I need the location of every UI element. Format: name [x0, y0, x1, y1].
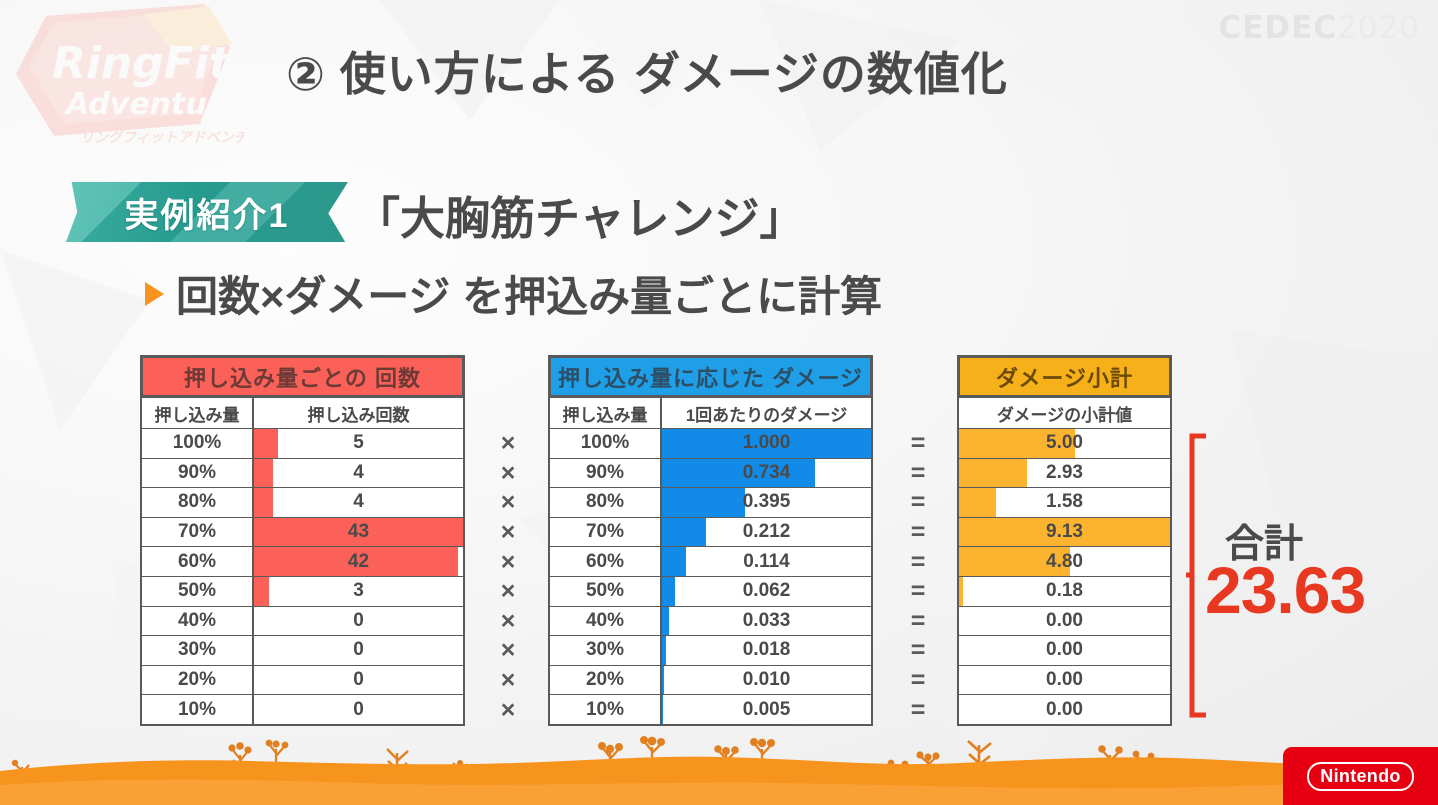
table-damage-column-headers: 押し込み量 1回あたりのダメージ: [550, 398, 871, 428]
table-row: 4.80: [959, 546, 1170, 576]
bottom-decoration-band: [0, 733, 1438, 805]
row-value: 0.114: [743, 551, 790, 573]
operator-column-equals: ==========: [888, 429, 948, 725]
equals-operator: =: [888, 607, 948, 637]
row-value: 5.00: [1046, 432, 1083, 454]
row-label: 10%: [550, 695, 662, 724]
row-value: 0.00: [1046, 699, 1083, 721]
row-value-cell: 0.005: [662, 695, 871, 724]
cedec-logo: CEDEC2020: [1219, 10, 1421, 46]
table-damage-col-0: 押し込み量: [550, 398, 662, 428]
row-label: 20%: [550, 666, 662, 695]
table-row: 70%0.212: [550, 517, 871, 547]
row-value-cell: 0: [254, 607, 463, 636]
row-value: 2.93: [1046, 462, 1083, 484]
equals-operator: =: [888, 547, 948, 577]
table-subtotal-header: ダメージ小計: [957, 355, 1172, 398]
table-row: 30%0.018: [550, 635, 871, 665]
section-subtitle: 「大胸筋チャレンジ」: [355, 182, 805, 247]
row-value-cell: 3: [254, 577, 463, 606]
svg-text:Adventure: Adventure: [64, 87, 242, 122]
table-reps-rows: 100%590%480%470%4360%4250%340%030%020%01…: [142, 428, 463, 724]
row-label: 60%: [550, 547, 662, 576]
row-label: 80%: [142, 488, 254, 517]
row-value: 0.033: [743, 610, 791, 632]
row-value-cell: 0.010: [662, 666, 871, 695]
table-row: 0.00: [959, 606, 1170, 636]
multiply-operator: ×: [478, 429, 538, 459]
table-row: 70%43: [142, 517, 463, 547]
table-row: 30%0: [142, 635, 463, 665]
value-bar: [254, 488, 273, 517]
row-value-cell: 0: [254, 636, 463, 665]
equals-operator: =: [888, 695, 948, 725]
table-reps-header: 押し込み量ごとの 回数: [140, 355, 465, 398]
row-label: 100%: [550, 429, 662, 458]
multiply-operator: ×: [478, 607, 538, 637]
table-reps-grid: 押し込み量 押し込み回数 100%590%480%470%4360%4250%3…: [140, 398, 465, 726]
table-row: 100%1.000: [550, 428, 871, 458]
value-bar: [959, 488, 996, 517]
table-row: 10%0: [142, 694, 463, 724]
row-value: 0.00: [1046, 669, 1083, 691]
table-row: 5.00: [959, 428, 1170, 458]
table-reps-column-headers: 押し込み量 押し込み回数: [142, 398, 463, 428]
equals-operator: =: [888, 429, 948, 459]
row-value: 0.00: [1046, 610, 1083, 632]
svg-text:RingFit: RingFit: [52, 38, 232, 89]
table-subtotal: ダメージ小計 ダメージの小計値 5.002.931.589.134.800.18…: [957, 355, 1172, 726]
value-bar: [662, 488, 745, 517]
row-value-cell: 0.395: [662, 488, 871, 517]
table-reps-col-0: 押し込み量: [142, 398, 254, 428]
cedec-logo-main: CEDEC: [1219, 10, 1338, 46]
value-bar: [662, 547, 686, 576]
equals-operator: =: [888, 459, 948, 489]
equals-operator: =: [888, 518, 948, 548]
row-label: 40%: [550, 607, 662, 636]
table-row: 40%0.033: [550, 606, 871, 636]
equals-operator: =: [888, 636, 948, 666]
row-value-cell: 5: [254, 429, 463, 458]
row-label: 30%: [142, 636, 254, 665]
table-row: 40%0: [142, 606, 463, 636]
row-value: 0: [353, 639, 364, 661]
table-row: 100%5: [142, 428, 463, 458]
page-title: ② 使い方による ダメージの数値化: [286, 38, 1008, 104]
row-label: 70%: [550, 518, 662, 547]
row-value-cell: 9.13: [959, 518, 1170, 547]
multiply-operator: ×: [478, 459, 538, 489]
table-row: 0.00: [959, 635, 1170, 665]
row-value-cell: 43: [254, 518, 463, 547]
table-row: 90%0.734: [550, 458, 871, 488]
row-value: 0.005: [743, 699, 791, 721]
table-damage-header: 押し込み量に応じた ダメージ: [548, 355, 873, 398]
table-row: 20%0: [142, 665, 463, 695]
equals-operator: =: [888, 488, 948, 518]
value-bar: [959, 459, 1027, 488]
value-bar: [662, 636, 666, 665]
row-label: 40%: [142, 607, 254, 636]
multiply-operator: ×: [478, 695, 538, 725]
row-value-cell: 0.018: [662, 636, 871, 665]
row-value-cell: 0.734: [662, 459, 871, 488]
row-value: 0.212: [743, 521, 791, 543]
row-value: 1.58: [1046, 491, 1083, 513]
value-bar: [662, 695, 663, 724]
multiply-operator: ×: [478, 666, 538, 696]
table-subtotal-col-0: ダメージの小計値: [959, 398, 1170, 428]
row-value-cell: 0: [254, 666, 463, 695]
table-reps-col-1: 押し込み回数: [254, 398, 463, 428]
row-value: 43: [348, 521, 369, 543]
table-row: 1.58: [959, 487, 1170, 517]
row-value-cell: 4: [254, 488, 463, 517]
table-subtotal-grid: ダメージの小計値 5.002.931.589.134.800.180.000.0…: [957, 398, 1172, 726]
table-row: 9.13: [959, 517, 1170, 547]
table-damage-grid: 押し込み量 1回あたりのダメージ 100%1.00090%0.73480%0.3…: [548, 398, 873, 726]
table-row: 20%0.010: [550, 665, 871, 695]
row-value: 3: [353, 580, 364, 602]
triangle-bullet-icon: [145, 282, 164, 306]
row-value: 42: [348, 551, 369, 573]
row-value-cell: 2.93: [959, 459, 1170, 488]
row-value-cell: 0.00: [959, 607, 1170, 636]
row-value-cell: 0: [254, 695, 463, 724]
row-value-cell: 0.18: [959, 577, 1170, 606]
value-bar: [254, 429, 278, 458]
row-value-cell: 1.58: [959, 488, 1170, 517]
table-row: 60%42: [142, 546, 463, 576]
value-bar: [662, 518, 706, 547]
table-row: 0.00: [959, 665, 1170, 695]
row-value: 0: [353, 610, 364, 632]
value-bar: [254, 459, 273, 488]
row-value-cell: 0.062: [662, 577, 871, 606]
table-row: 50%3: [142, 576, 463, 606]
row-label: 90%: [550, 459, 662, 488]
row-label: 70%: [142, 518, 254, 547]
table-row: 2.93: [959, 458, 1170, 488]
svg-text:リングフィットアドベンチャー: リングフィットアドベンチャー: [80, 129, 244, 146]
slide-canvas: RingFit Adventure リングフィットアドベンチャー CEDEC20…: [0, 0, 1438, 805]
table-row: 50%0.062: [550, 576, 871, 606]
row-value: 0.00: [1046, 639, 1083, 661]
row-value-cell: 0.00: [959, 666, 1170, 695]
row-value-cell: 0.033: [662, 607, 871, 636]
table-row: 10%0.005: [550, 694, 871, 724]
multiply-operator: ×: [478, 577, 538, 607]
value-bar: [662, 459, 815, 488]
value-bar: [254, 577, 269, 606]
row-value: 0.18: [1046, 580, 1083, 602]
equals-operator: =: [888, 666, 948, 696]
row-label: 60%: [142, 547, 254, 576]
row-label: 50%: [550, 577, 662, 606]
value-bar: [662, 607, 669, 636]
row-value-cell: 0.212: [662, 518, 871, 547]
table-subtotal-rows: 5.002.931.589.134.800.180.000.000.000.00: [959, 428, 1170, 724]
table-subtotal-column-headers: ダメージの小計値: [959, 398, 1170, 428]
table-row: 90%4: [142, 458, 463, 488]
example-badge: 実例紹介1: [66, 182, 348, 242]
row-label: 20%: [142, 666, 254, 695]
cedec-logo-year: 2020: [1337, 10, 1420, 46]
table-row: 60%0.114: [550, 546, 871, 576]
row-value: 0: [353, 699, 364, 721]
multiply-operator: ×: [478, 518, 538, 548]
row-value-cell: 4.80: [959, 547, 1170, 576]
value-bar: [662, 577, 675, 606]
row-value-cell: 42: [254, 547, 463, 576]
row-value: 5: [353, 432, 364, 454]
row-value: 0.062: [743, 580, 791, 602]
row-label: 10%: [142, 695, 254, 724]
table-row: 80%0.395: [550, 487, 871, 517]
example-badge-label: 実例紹介1: [125, 188, 290, 237]
row-value: 4: [353, 491, 364, 513]
row-label: 90%: [142, 459, 254, 488]
multiply-operator: ×: [478, 547, 538, 577]
row-value: 0: [353, 669, 364, 691]
row-value-cell: 0.114: [662, 547, 871, 576]
row-value: 4: [353, 462, 364, 484]
row-value: 0.010: [743, 669, 791, 691]
row-value: 0.734: [743, 462, 791, 484]
value-bar: [662, 666, 664, 695]
bullet-text: 回数×ダメージ を押込み量ごとに計算: [176, 263, 882, 324]
table-damage-col-1: 1回あたりのダメージ: [662, 398, 871, 428]
value-bar: [959, 577, 963, 606]
equals-operator: =: [888, 577, 948, 607]
nintendo-logo-label: Nintendo: [1307, 762, 1413, 791]
table-row: 0.18: [959, 576, 1170, 606]
row-value-cell: 0.00: [959, 695, 1170, 724]
bullet-row: 回数×ダメージ を押込み量ごとに計算: [145, 263, 882, 324]
table-damage: 押し込み量に応じた ダメージ 押し込み量 1回あたりのダメージ 100%1.00…: [548, 355, 873, 726]
row-value-cell: 0.00: [959, 636, 1170, 665]
ring-fit-adventure-logo: RingFit Adventure リングフィットアドベンチャー: [0, 0, 244, 168]
row-label: 100%: [142, 429, 254, 458]
multiply-operator: ×: [478, 488, 538, 518]
table-row: 0.00: [959, 694, 1170, 724]
row-label: 80%: [550, 488, 662, 517]
row-label: 30%: [550, 636, 662, 665]
row-value: 9.13: [1046, 521, 1083, 543]
row-value: 0.395: [743, 491, 791, 513]
row-value: 0.018: [743, 639, 791, 661]
row-value: 1.000: [743, 432, 791, 454]
row-value: 4.80: [1046, 551, 1083, 573]
row-label: 50%: [142, 577, 254, 606]
table-row: 80%4: [142, 487, 463, 517]
row-value-cell: 1.000: [662, 429, 871, 458]
row-value-cell: 5.00: [959, 429, 1170, 458]
nintendo-logo: Nintendo: [1283, 747, 1438, 805]
table-reps: 押し込み量ごとの 回数 押し込み量 押し込み回数 100%590%480%470…: [140, 355, 465, 726]
table-damage-rows: 100%1.00090%0.73480%0.39570%0.21260%0.11…: [550, 428, 871, 724]
multiply-operator: ×: [478, 636, 538, 666]
total-value: 23.63: [1205, 552, 1365, 628]
operator-column-multiply: ××××××××××: [478, 429, 538, 725]
row-value-cell: 4: [254, 459, 463, 488]
